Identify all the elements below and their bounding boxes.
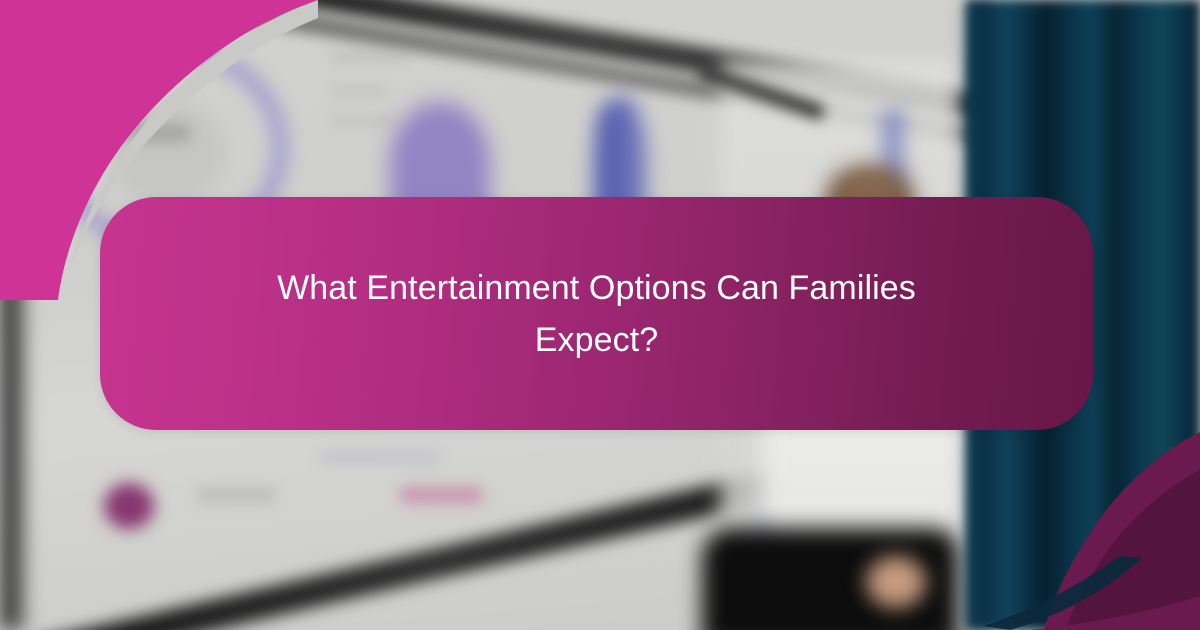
legend-bar-pink xyxy=(400,487,482,503)
legend-dot-plum xyxy=(104,483,154,529)
donut-chart-label xyxy=(128,124,190,142)
presenter-hand xyxy=(866,556,926,608)
board-text-block-2 xyxy=(330,86,388,95)
donut-chart-center xyxy=(108,100,226,204)
legend-bar-grey xyxy=(196,487,276,503)
board-text-block-1 xyxy=(330,52,408,62)
board-chart-faint-bar xyxy=(320,452,440,462)
whiteboard-left-edge xyxy=(0,90,26,630)
share-card: What Entertainment Options Can Families … xyxy=(0,0,1200,630)
page-title: What Entertainment Options Can Families … xyxy=(237,262,957,366)
board-text-block-3 xyxy=(330,116,396,125)
title-banner: What Entertainment Options Can Families … xyxy=(100,197,1093,430)
